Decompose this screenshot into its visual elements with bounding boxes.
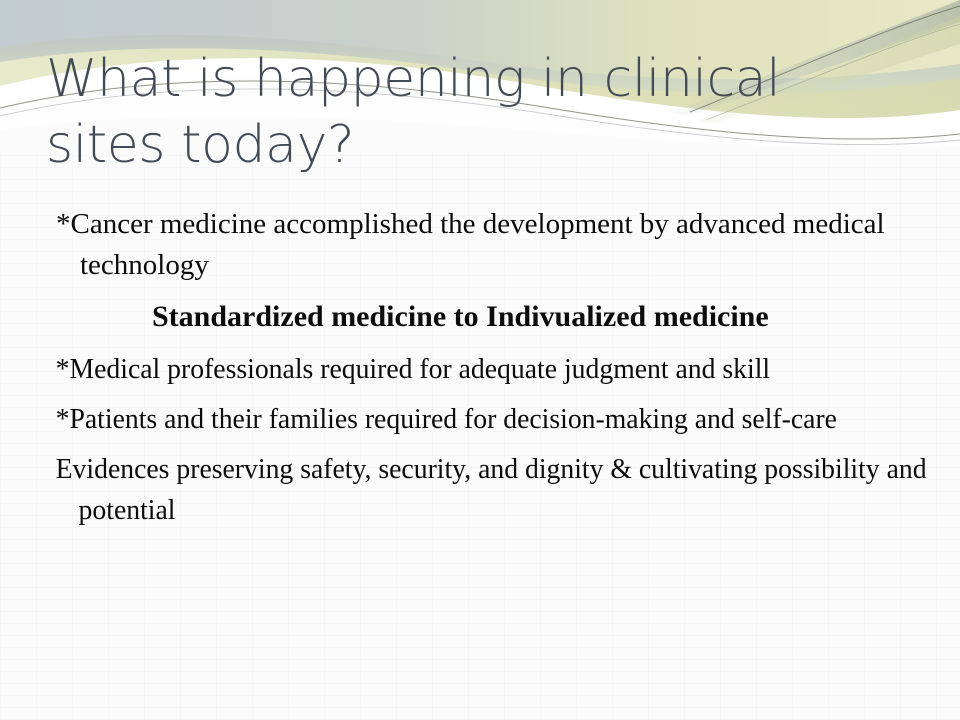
- body-highlight-statement: Standardized medicine to Indivualized me…: [48, 295, 920, 339]
- body-bullet-2: *Medical professionals required for adeq…: [48, 349, 950, 390]
- body-bullet-3: *Patients and their families required fo…: [48, 399, 950, 440]
- presentation-slide: What is happening in clinical sites toda…: [0, 0, 960, 720]
- body-bullet-1: *Cancer medicine accomplished the develo…: [48, 204, 920, 286]
- page-title: What is happening in clinical sites toda…: [46, 46, 914, 178]
- body-highlight-text: Standardized medicine to Indivualized me…: [152, 300, 769, 333]
- slide-body: *Cancer medicine accomplished the develo…: [48, 204, 920, 540]
- body-bullet-4: Evidences preserving safety, security, a…: [48, 449, 950, 531]
